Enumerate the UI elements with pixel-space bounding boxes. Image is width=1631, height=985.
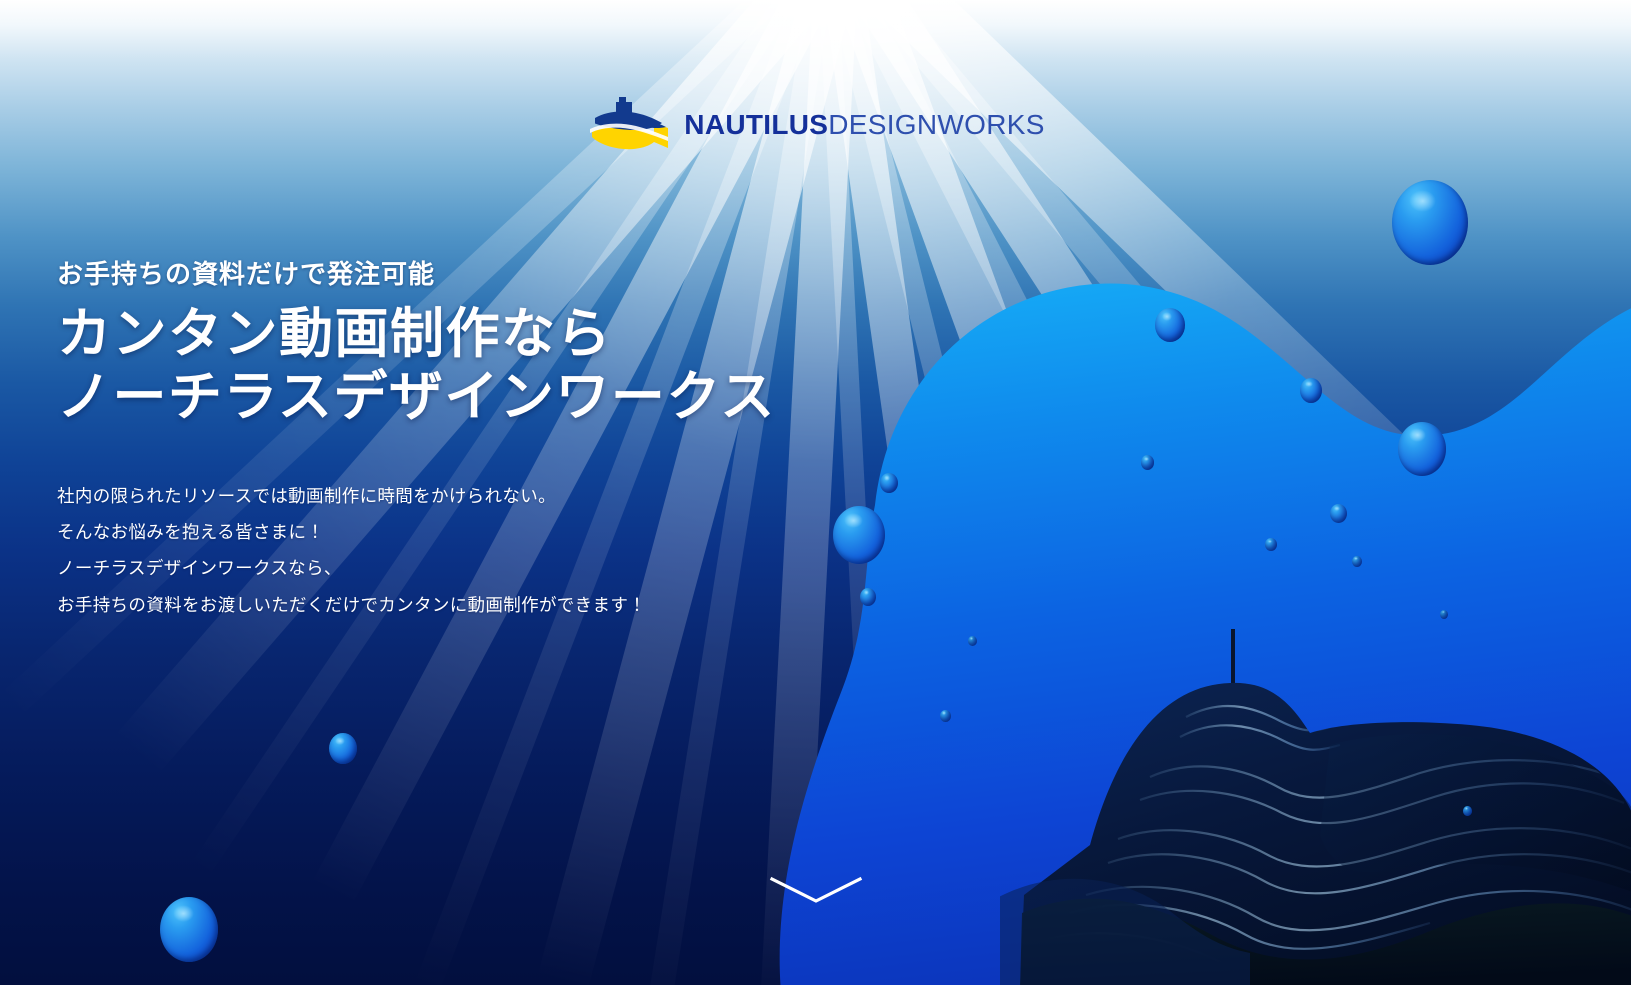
bubble bbox=[1463, 806, 1472, 816]
bubble bbox=[1141, 455, 1154, 470]
bubble bbox=[1155, 308, 1185, 342]
logo-link[interactable]: NAUTILUSDESIGNWORKS bbox=[586, 96, 1044, 154]
hero-eyebrow: お手持ちの資料だけで発注可能 bbox=[57, 258, 917, 291]
hero-section: NAUTILUSDESIGNWORKS お手持ちの資料だけで発注可能 カンタン動… bbox=[0, 0, 1631, 985]
bubble bbox=[1398, 422, 1446, 476]
logo-wordmark: NAUTILUSDESIGNWORKS bbox=[684, 111, 1044, 139]
bubble bbox=[1392, 180, 1468, 265]
bubble bbox=[1300, 378, 1322, 403]
submarine-logo-icon bbox=[586, 96, 670, 154]
hero-lead-line: 社内の限られたリソースでは動画制作に時間をかけられない。 bbox=[57, 478, 917, 514]
logo-brand-light: DESIGNWORKS bbox=[828, 109, 1044, 140]
bubble bbox=[160, 897, 218, 962]
page-title: カンタン動画制作なら ノーチラスデザインワークス bbox=[57, 303, 917, 430]
hero-lead: 社内の限られたリソースでは動画制作に時間をかけられない。 そんなお悩みを抱える皆… bbox=[57, 478, 917, 623]
chevron-down-icon[interactable] bbox=[768, 875, 864, 905]
headline-line-2: ノーチラスデザインワークス bbox=[57, 366, 917, 430]
hero-copy: お手持ちの資料だけで発注可能 カンタン動画制作なら ノーチラスデザインワークス … bbox=[57, 258, 917, 623]
hero-lead-line: ノーチラスデザインワークスなら、 bbox=[57, 550, 917, 586]
submarine-silhouette bbox=[1000, 595, 1631, 985]
bubble bbox=[1330, 504, 1347, 523]
headline-line-1: カンタン動画制作なら bbox=[57, 303, 917, 367]
logo-periscope bbox=[619, 97, 626, 102]
bubble bbox=[1440, 610, 1448, 619]
logo-brand-bold: NAUTILUS bbox=[684, 109, 828, 140]
hero-lead-line: お手持ちの資料をお渡しいただくだけでカンタンに動画制作ができます！ bbox=[57, 587, 917, 623]
bubble bbox=[968, 636, 977, 646]
hero-lead-line: そんなお悩みを抱える皆さまに！ bbox=[57, 514, 917, 550]
logo-conning-tower bbox=[616, 102, 632, 114]
site-logo-bar: NAUTILUSDESIGNWORKS bbox=[0, 96, 1631, 154]
